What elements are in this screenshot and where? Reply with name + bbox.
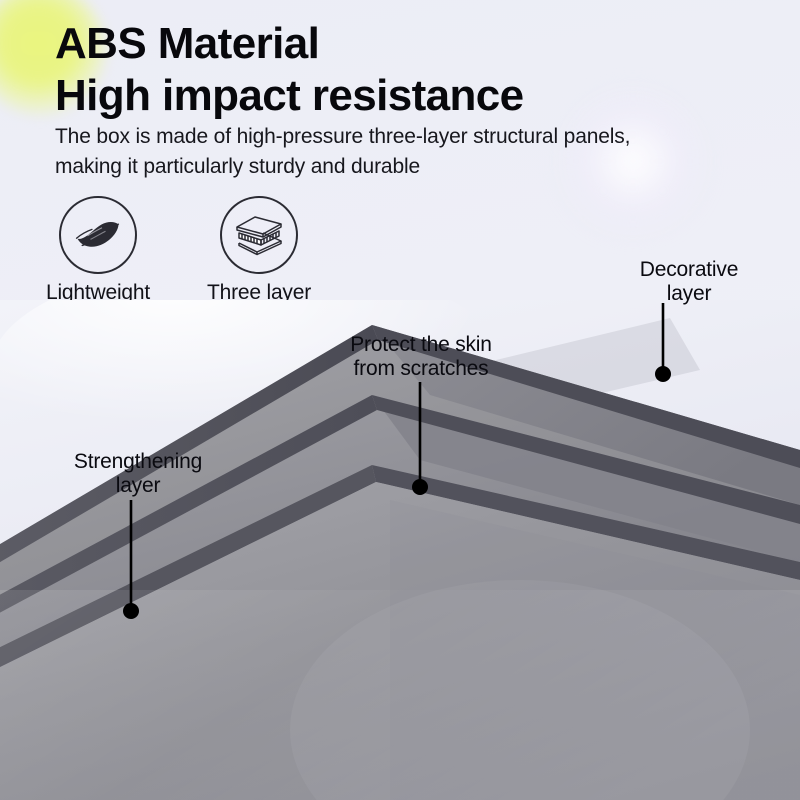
product-infographic: ABS Material High impact resistance The … <box>0 0 800 800</box>
page-subtitle: The box is made of high-pressure three-l… <box>55 122 765 182</box>
subtitle-line-1: The box is made of high-pressure three-l… <box>55 122 765 152</box>
feather-icon <box>59 196 137 274</box>
headline-line-1: ABS Material <box>55 18 755 70</box>
callout-strengthening-layer: Strengthening layer <box>50 450 226 498</box>
page-title: ABS Material High impact resistance <box>55 18 755 122</box>
headline-line-2: High impact resistance <box>55 70 755 122</box>
callout-protect-the-skin-from-scratches: Protect the skin from scratches <box>330 333 512 381</box>
layered-panel-icon <box>220 196 298 274</box>
subtitle-line-2: making it particularly sturdy and durabl… <box>55 152 765 182</box>
callout-decorative-layer: Decorative layer <box>604 258 774 306</box>
feature-lightweight: Lightweight <box>18 196 178 304</box>
